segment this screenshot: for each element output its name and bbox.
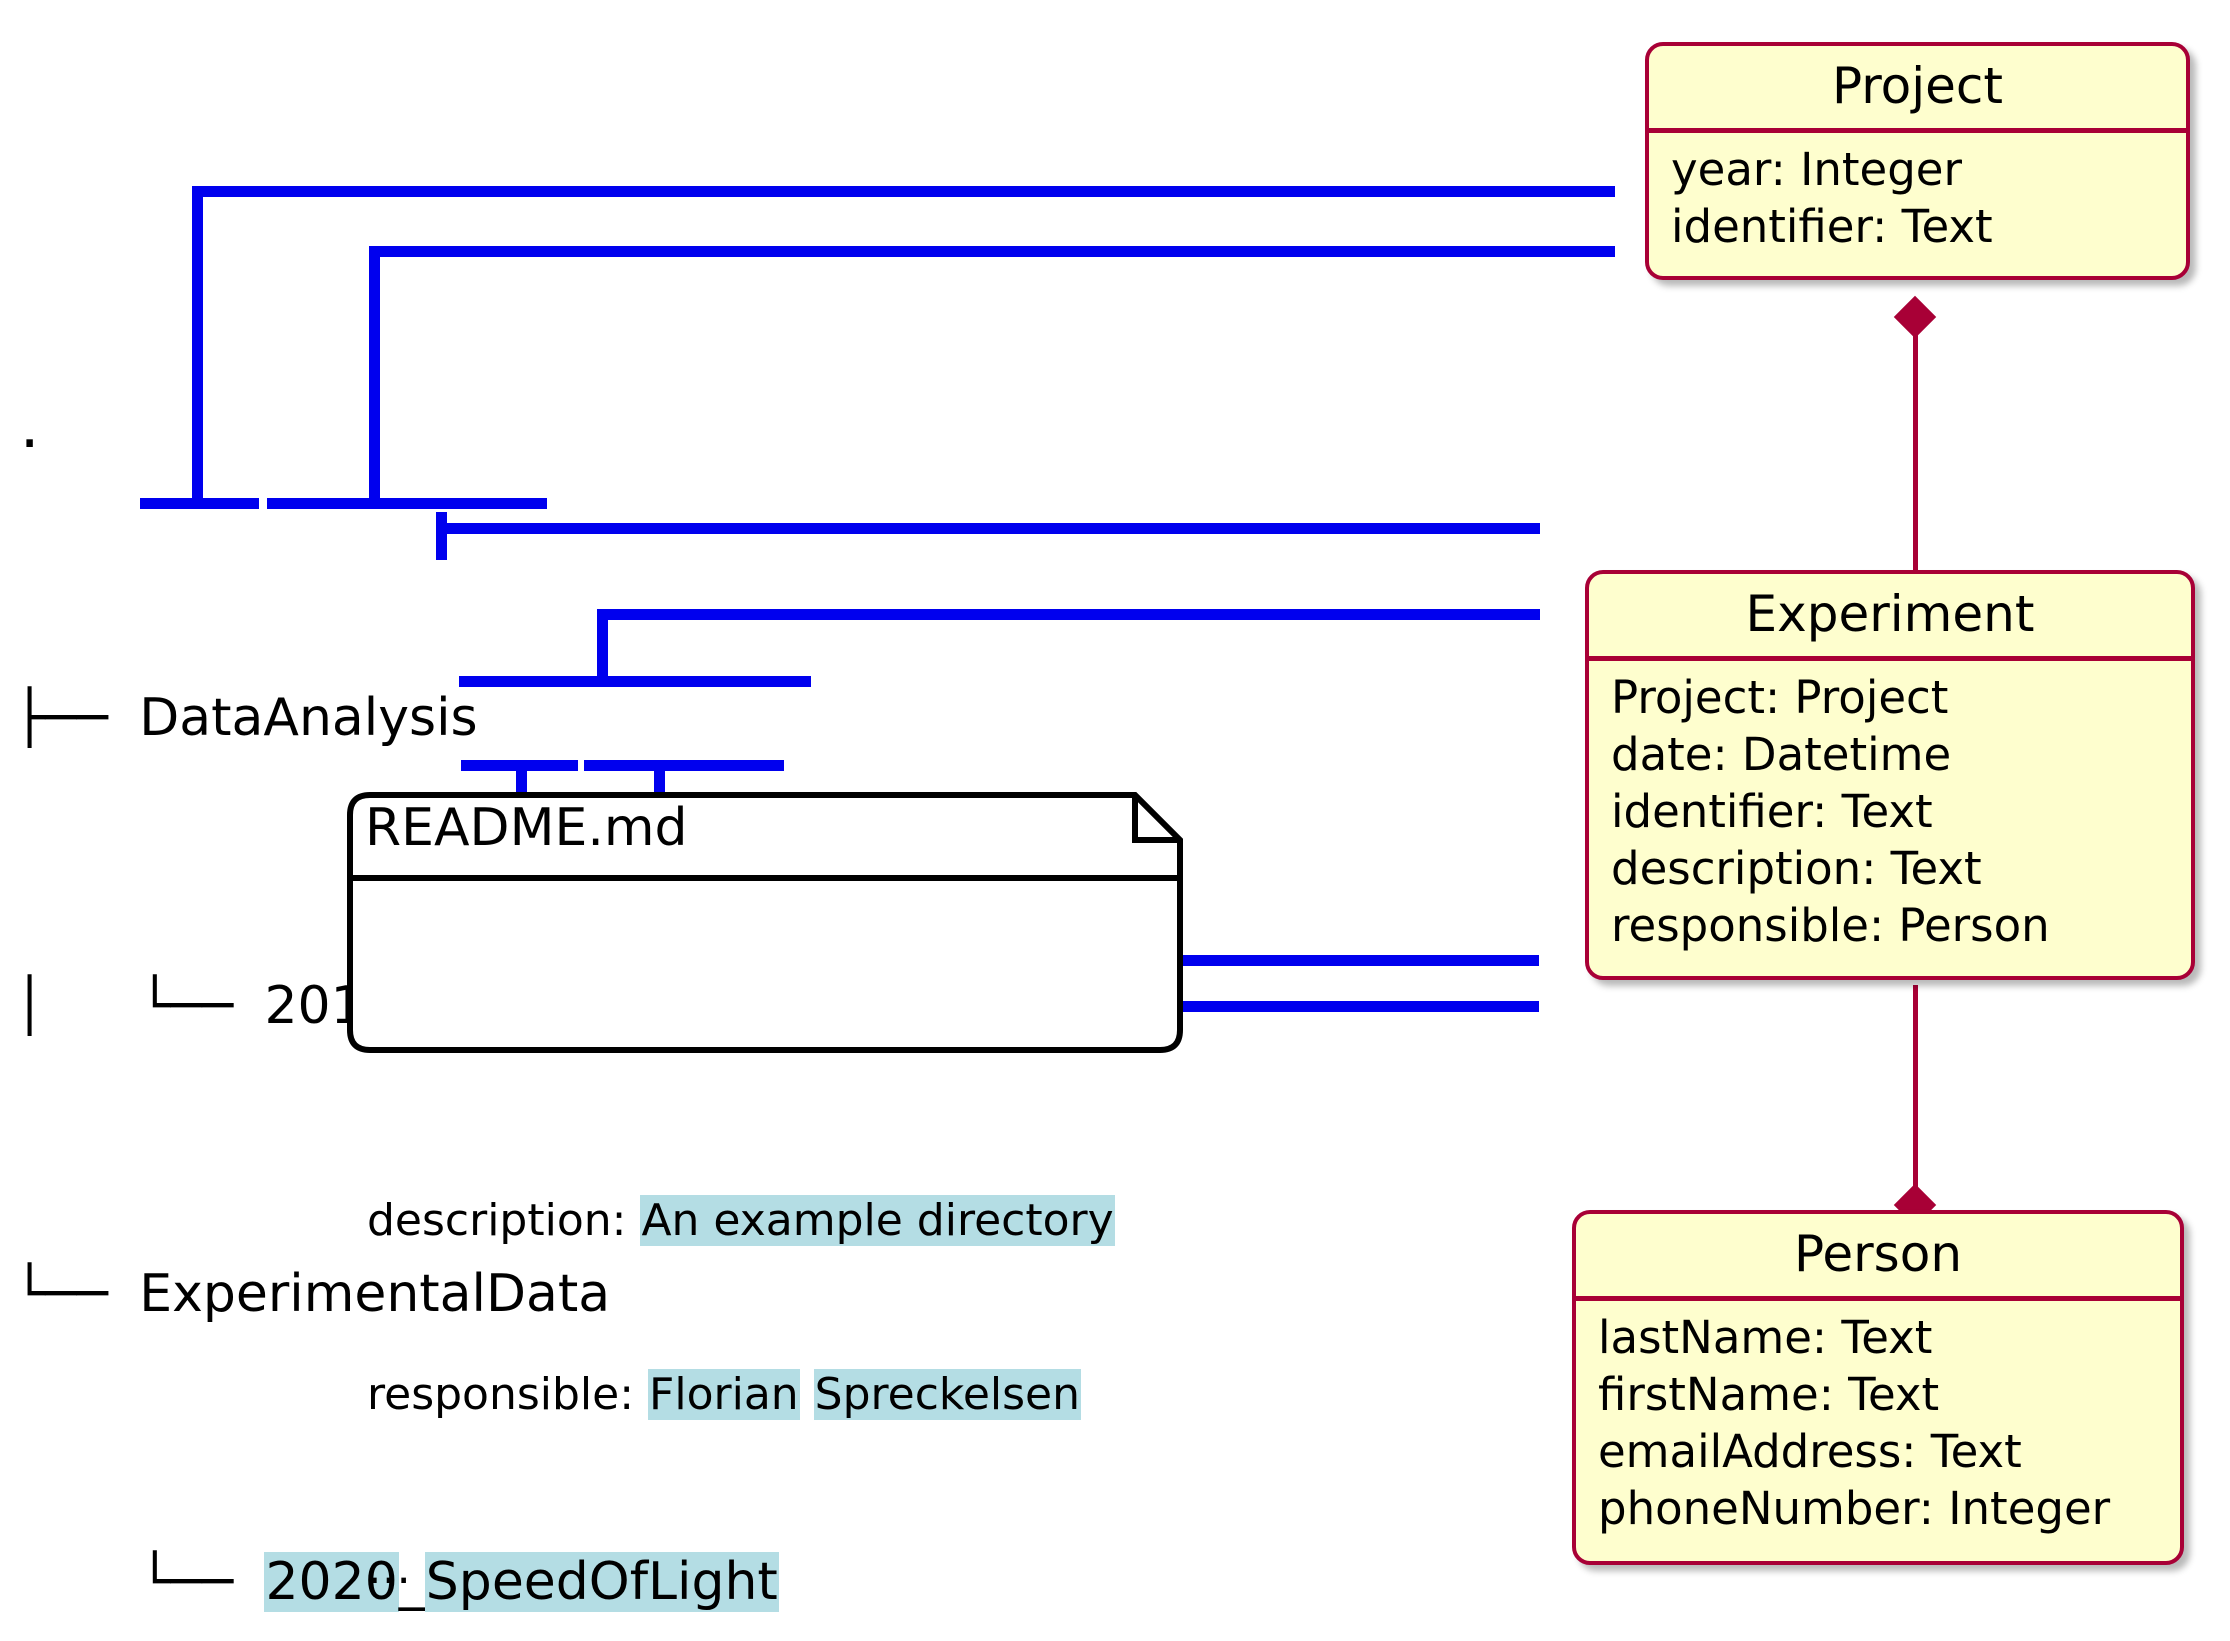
tree-guides: └── xyxy=(14,1552,264,1612)
note-value-firstname: Florian xyxy=(648,1369,800,1420)
note-filename: README.md xyxy=(365,798,688,858)
note-line-frontmatter-start: --- xyxy=(367,1018,1115,1076)
uml-attribute: identifier: Text xyxy=(1611,783,2181,840)
note-line-ellipsis: … xyxy=(367,1540,1115,1598)
edge-experiment-person xyxy=(1913,985,1918,1215)
tree-guides: └── xyxy=(14,1264,139,1324)
uml-class-experiment[interactable]: Experiment Project: Project date: Dateti… xyxy=(1585,570,2195,980)
uml-attribute: firstName: Text xyxy=(1598,1366,2170,1423)
connector-2020-to-project-year-horizontal xyxy=(192,186,1615,197)
uml-attribute: responsible: Person xyxy=(1611,897,2181,954)
tree-row-root: . xyxy=(14,394,1050,466)
tree-guides: ├── xyxy=(14,688,139,748)
note-value-description: An example directory xyxy=(640,1195,1114,1246)
uml-class-title: Experiment xyxy=(1589,574,2191,656)
uml-class-title: Project xyxy=(1649,46,2186,128)
tree-item-label: DataAnalysis xyxy=(139,688,477,748)
uml-attributes: lastName: Text firstName: Text emailAddr… xyxy=(1576,1301,2180,1547)
edge-project-experiment xyxy=(1913,330,1918,575)
uml-attribute: lastName: Text xyxy=(1598,1309,2170,1366)
uml-attributes: year: Integer identifier: Text xyxy=(1649,133,2186,265)
note-line-prefix: --- xyxy=(367,1021,415,1072)
note-body: --- description: An example directory re… xyxy=(367,902,1115,1641)
note-value-lastname: Spreckelsen xyxy=(814,1369,1081,1420)
note-line-description: description: An example directory xyxy=(367,1192,1115,1250)
uml-attribute: emailAddress: Text xyxy=(1598,1423,2170,1480)
tree-guides: │ └── xyxy=(14,976,264,1036)
uml-attribute: date: Datetime xyxy=(1611,726,2181,783)
diagram-canvas: . ├── DataAnalysis │ └── 2019_Elementary… xyxy=(0,0,2230,1641)
composition-diamond-project xyxy=(1894,296,1936,338)
tree-root-label: . xyxy=(14,400,45,460)
uml-attributes: Project: Project date: Datetime identifi… xyxy=(1589,661,2191,964)
uml-class-project[interactable]: Project year: Integer identifier: Text xyxy=(1645,42,2190,280)
uml-attribute: Project: Project xyxy=(1611,669,2181,726)
uml-class-title: Person xyxy=(1576,1214,2180,1296)
note-line-prefix: responsible: xyxy=(367,1369,648,1420)
note-value-space xyxy=(800,1369,814,1420)
uml-class-person[interactable]: Person lastName: Text firstName: Text em… xyxy=(1572,1210,2184,1565)
uml-attribute: description: Text xyxy=(1611,840,2181,897)
note-line-prefix: description: xyxy=(367,1195,640,1246)
uml-attribute: identifier: Text xyxy=(1671,198,2176,255)
note-line-responsible: responsible: Florian Spreckelsen xyxy=(367,1366,1115,1424)
uml-attribute: phoneNumber: Integer xyxy=(1598,1480,2170,1537)
tree-row-dataanalysis[interactable]: ├── DataAnalysis xyxy=(14,682,1050,754)
uml-attribute: year: Integer xyxy=(1671,141,2176,198)
note-line-prefix: … xyxy=(367,1543,411,1594)
readme-note: README.md --- description: An example di… xyxy=(345,790,1185,1055)
